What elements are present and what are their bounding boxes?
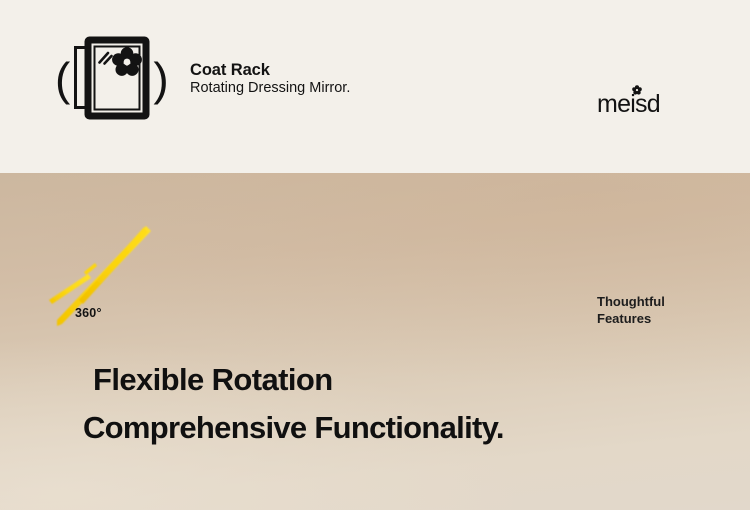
brand-wordmark: meisd — [597, 90, 660, 117]
bracket-left-icon: ( — [55, 56, 70, 102]
product-text-block: Coat Rack Rotating Dressing Mirror. — [190, 60, 350, 98]
banner-page: ( ) — [0, 0, 750, 510]
header-bar: ( ) — [0, 0, 750, 173]
hero-headline: Flexible Rotation Comprehensive Function… — [83, 360, 504, 446]
brand-logo-meisd: meisd — [597, 83, 677, 117]
headline-line-2: Comprehensive Functionality. — [83, 409, 504, 446]
feature-note: Thoughtful Features — [597, 293, 665, 327]
bracket-right-icon: ) — [153, 56, 168, 102]
feature-note-line2: Features — [597, 310, 665, 327]
dressing-mirror-icon — [72, 36, 150, 122]
product-badge: ( ) — [55, 36, 169, 122]
feature-note-line1: Thoughtful — [597, 293, 665, 310]
headline-line-1: Flexible Rotation — [93, 360, 504, 400]
product-subtitle: Rotating Dressing Mirror. — [190, 80, 350, 98]
product-title: Coat Rack — [190, 60, 350, 80]
rotation-degree-label: 360° — [75, 306, 102, 320]
